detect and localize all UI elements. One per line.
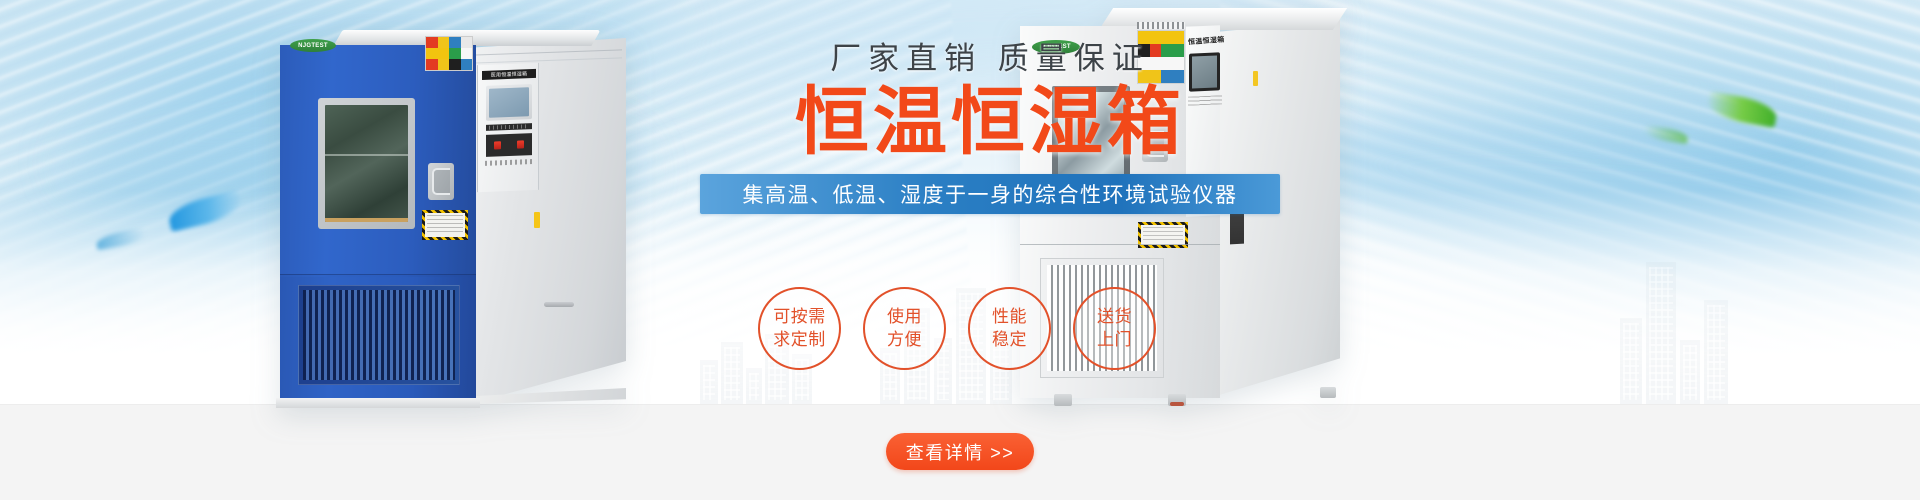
feature-badge[interactable]: 送货 上门 — [1073, 287, 1156, 370]
left-chamber-brand-logo: NJGTEST — [290, 39, 336, 52]
right-chamber-leveling-foot — [1168, 394, 1186, 406]
promo-banner: NJGTEST 医用恒温恒湿箱 — [0, 0, 1920, 500]
feature-badge-line1: 性能 — [992, 306, 1027, 328]
left-chamber-door-handle-icon — [428, 163, 454, 200]
left-chamber-panel-title-plate: 医用恒温恒湿箱 — [482, 69, 536, 80]
left-chamber-hmi-screen — [486, 84, 532, 121]
left-chamber-warning-label — [422, 210, 468, 240]
feature-badge-line2: 上门 — [1097, 329, 1132, 351]
left-chamber-control-panel: 医用恒温恒湿箱 — [477, 63, 539, 192]
right-chamber-leveling-foot — [1320, 387, 1336, 398]
banner-copy-block: 厂家直销 质量保证 恒温恒湿箱 集高温、低温、湿度于一身的综合性环境试验仪器 — [690, 42, 1290, 214]
left-chamber-vent-grille — [298, 285, 460, 385]
skyline-cluster-right — [1620, 254, 1730, 404]
feature-badge-line2: 求定制 — [773, 329, 826, 351]
left-chamber-yellow-latch-icon — [534, 212, 540, 228]
feature-badge[interactable]: 可按需 求定制 — [758, 287, 841, 370]
banner-subtitle-text: 集高温、低温、湿度于一身的综合性环境试验仪器 — [743, 179, 1238, 209]
left-chamber-safety-stickers — [425, 36, 473, 71]
product-image-left-chamber: NJGTEST 医用恒温恒湿箱 — [276, 30, 626, 405]
left-chamber-viewing-window — [318, 98, 415, 229]
view-details-button[interactable]: 查看详情 >> — [886, 433, 1034, 470]
feature-badge-line1: 使用 — [887, 306, 922, 328]
feature-badge-list: 可按需 求定制 使用 方便 性能 稳定 送货 上门 — [758, 287, 1218, 370]
right-chamber-leveling-foot — [1054, 394, 1072, 406]
left-chamber-panel-title-text: 医用恒温恒湿箱 — [491, 70, 527, 78]
feature-badge-line2: 稳定 — [992, 329, 1027, 351]
feature-badge[interactable]: 性能 稳定 — [968, 287, 1051, 370]
banner-subtitle-bar: 集高温、低温、湿度于一身的综合性环境试验仪器 — [700, 174, 1280, 214]
feature-badge-line1: 可按需 — [773, 306, 826, 328]
banner-eyebrow: 厂家直销 质量保证 — [690, 42, 1290, 76]
banner-headline: 恒温恒湿箱 — [690, 82, 1290, 162]
left-chamber-side-handle-icon — [544, 302, 574, 307]
feature-badge[interactable]: 使用 方便 — [863, 287, 946, 370]
left-chamber-brand-text: NJGTEST — [298, 43, 328, 49]
feature-badge-line2: 方便 — [887, 329, 922, 351]
left-chamber-indicator-lights — [486, 133, 532, 157]
feature-badge-line1: 送货 — [1097, 306, 1132, 328]
